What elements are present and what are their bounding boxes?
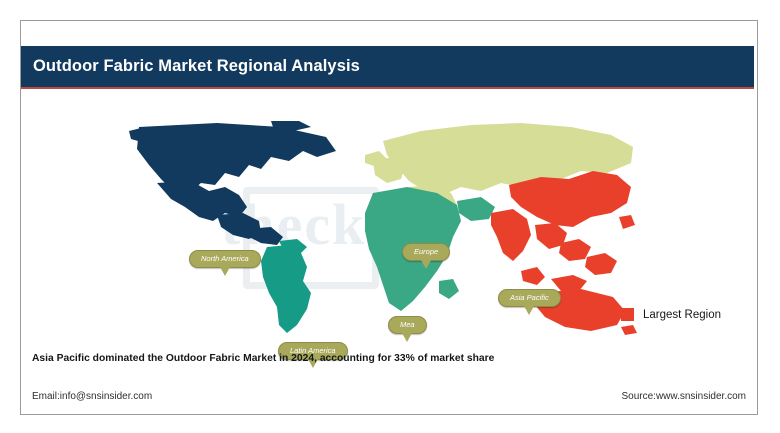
map-label-mea[interactable]: Mea — [388, 316, 427, 334]
header-accent-rule — [21, 87, 754, 89]
map-legend: Largest Region — [621, 308, 721, 321]
legend-label-largest-region: Largest Region — [643, 309, 721, 321]
footer: Email:info@snsinsider.com Source:www.sns… — [32, 391, 746, 402]
map-label-asia-pacific-text: Asia Pacific — [498, 289, 561, 307]
map-label-asia-pacific[interactable]: Asia Pacific — [498, 289, 561, 307]
map-label-mea-text: Mea — [388, 316, 427, 334]
map-label-north-america[interactable]: North America — [189, 250, 261, 268]
pointer-tail-icon — [402, 333, 412, 342]
pointer-tail-icon — [220, 267, 230, 276]
map-label-north-america-text: North America — [189, 250, 261, 268]
pointer-tail-icon — [524, 306, 534, 315]
page-title: Outdoor Fabric Market Regional Analysis — [21, 57, 360, 76]
map-label-europe-text: Europe — [402, 243, 450, 261]
world-map-panel: theck st — [21, 91, 757, 353]
world-map-svg — [121, 121, 641, 336]
map-region-asia-pacific — [491, 171, 637, 335]
map-caption: Asia Pacific dominated the Outdoor Fabri… — [32, 353, 732, 364]
report-card-frame: Outdoor Fabric Market Regional Analysis … — [20, 20, 758, 415]
map-region-north-america — [129, 121, 336, 245]
map-region-latin-america — [261, 239, 311, 333]
map-label-europe[interactable]: Europe — [402, 243, 450, 261]
footer-email: Email:info@snsinsider.com — [32, 391, 152, 402]
header-bar: Outdoor Fabric Market Regional Analysis — [21, 46, 754, 87]
footer-source: Source:www.snsinsider.com — [622, 391, 747, 402]
pointer-tail-icon — [421, 260, 431, 269]
legend-swatch-largest-region — [621, 308, 634, 321]
